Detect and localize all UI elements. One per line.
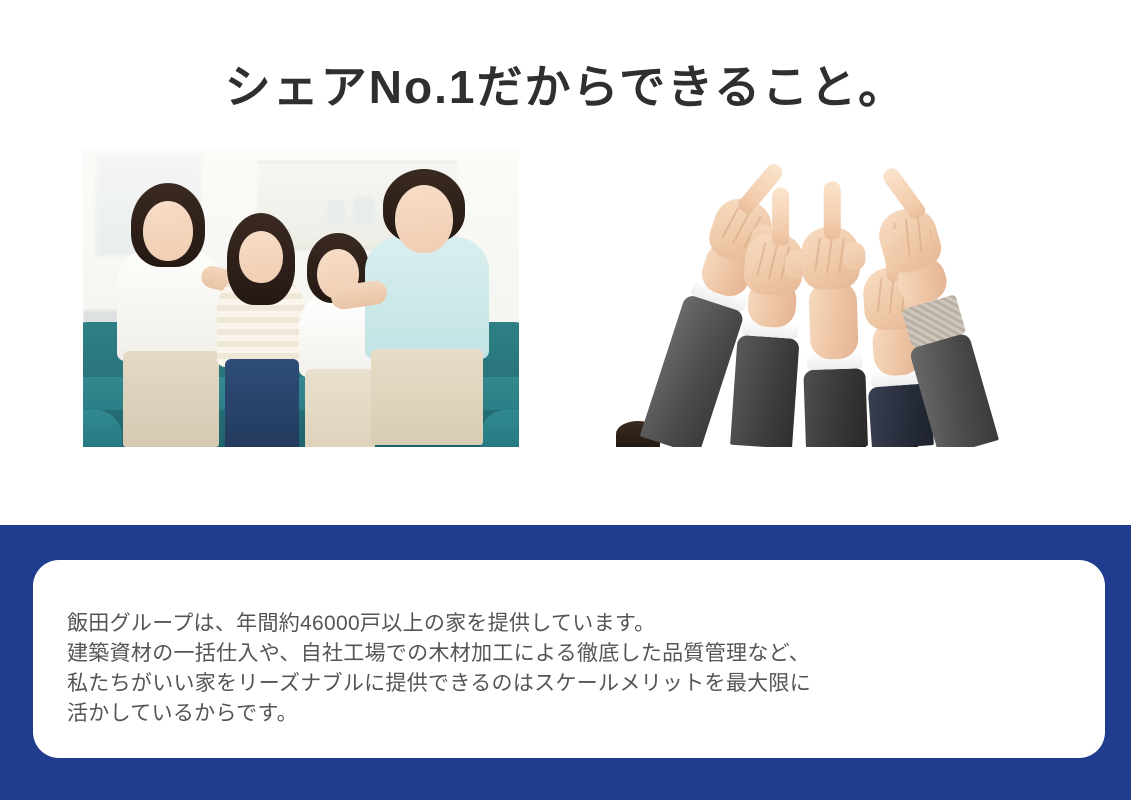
page-root: シェアNo.1だからできること。: [0, 0, 1131, 800]
family-photo-room-background: [83, 149, 519, 447]
mother-head: [143, 201, 193, 261]
hands-photo-background: [610, 159, 1041, 447]
forearm-3: [808, 280, 859, 360]
person-father: [371, 173, 495, 445]
mother-legs: [123, 351, 219, 447]
suit-sleeve-3: [803, 368, 868, 447]
index-finger-3: [824, 181, 841, 239]
boy-legs: [305, 369, 375, 447]
description-card: 飯田グループは、年間約46000戸以上の家を提供しています。 建築資材の一括仕入…: [33, 560, 1105, 758]
index-finger-2: [772, 188, 789, 246]
suit-sleeve-1: [640, 294, 745, 447]
description-text: 飯田グループは、年間約46000戸以上の家を提供しています。 建築資材の一括仕入…: [67, 609, 1071, 729]
suit-sleeve-2: [730, 335, 800, 447]
father-legs: [371, 349, 483, 445]
father-head: [395, 185, 453, 253]
person-mother: [117, 183, 221, 447]
family-photo: [83, 149, 519, 447]
girl-head: [239, 231, 283, 283]
photo-row: [0, 149, 1131, 449]
girl-legs: [225, 359, 299, 447]
pointing-hands-photo: [610, 159, 1041, 447]
page-title: シェアNo.1だからできること。: [0, 59, 1131, 117]
highlight-band: 飯田グループは、年間約46000戸以上の家を提供しています。 建築資材の一括仕入…: [0, 525, 1131, 800]
person-girl: [217, 189, 307, 447]
